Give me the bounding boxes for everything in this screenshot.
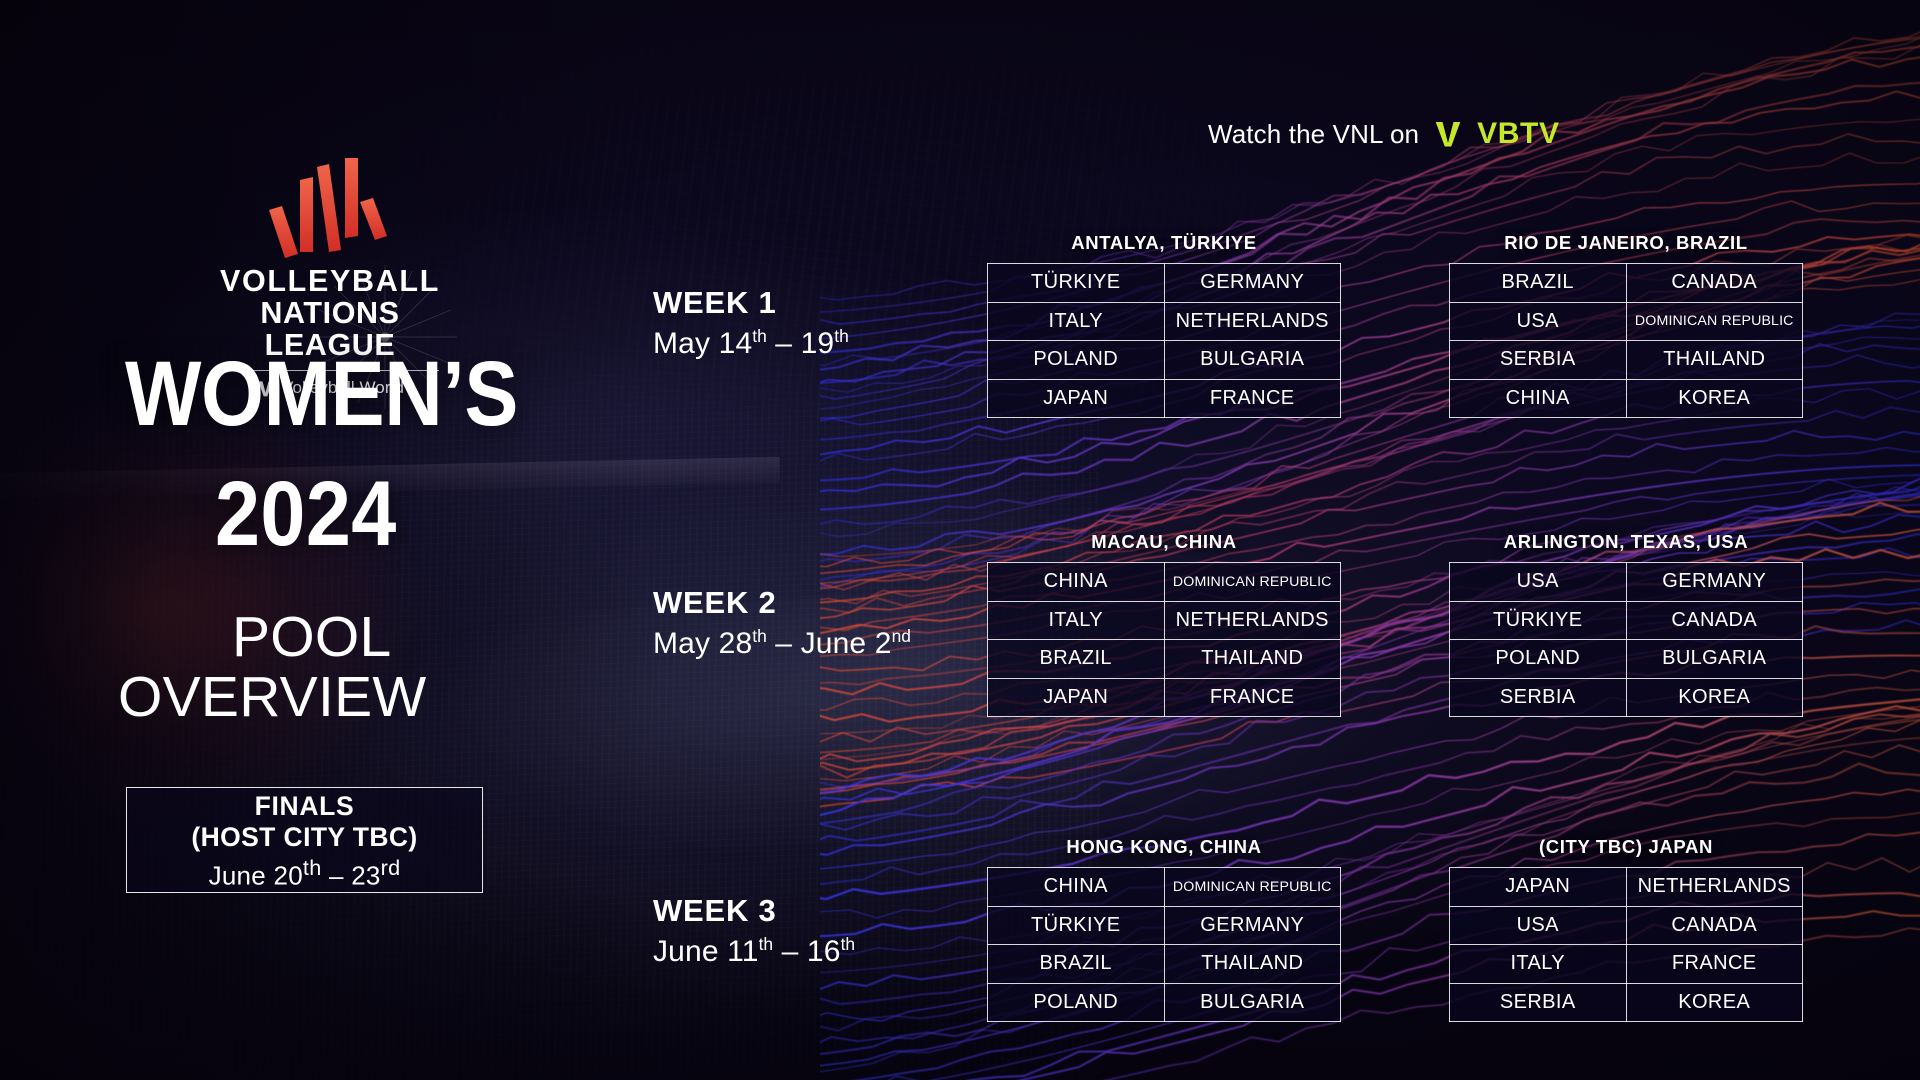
- finals-box: FINALS (HOST CITY TBC) June 20th – 23rd: [126, 787, 483, 893]
- table-row: TÜRKIYEGERMANY: [988, 264, 1341, 303]
- pool-table: CHINADOMINICAN REPUBLICTÜRKIYEGERMANYBRA…: [987, 867, 1341, 1022]
- finals-date-dash: –: [322, 860, 352, 890]
- week-title: WEEK 1: [653, 285, 849, 321]
- week-date-p2: – 19: [767, 327, 834, 360]
- finals-date-sup1: th: [303, 855, 322, 880]
- finals-title: FINALS: [255, 791, 355, 822]
- team-cell: THAILAND: [1164, 640, 1341, 679]
- table-row: POLANDBULGARIA: [988, 341, 1341, 380]
- table-row: SERBIATHAILAND: [1450, 341, 1803, 380]
- team-cell: JAPAN: [988, 379, 1165, 418]
- pool-block: HONG KONG, CHINACHINADOMINICAN REPUBLICT…: [987, 836, 1341, 1022]
- team-cell: KOREA: [1626, 379, 1803, 418]
- team-cell: BRAZIL: [988, 945, 1165, 984]
- team-cell: USA: [1450, 302, 1627, 341]
- team-cell: TÜRKIYE: [1450, 601, 1627, 640]
- team-cell: BULGARIA: [1164, 341, 1341, 380]
- week-dates: May 28th – June 2nd: [653, 626, 911, 661]
- pool-table: BRAZILCANADAUSADOMINICAN REPUBLICSERBIAT…: [1449, 263, 1803, 418]
- finals-date-day1: 20: [273, 860, 302, 890]
- team-cell: NETHERLANDS: [1164, 302, 1341, 341]
- page-title-line-1: WOMEN’S: [125, 352, 518, 437]
- vnl-logo-icon: [255, 150, 405, 260]
- team-cell: DOMINICAN REPUBLIC: [1164, 868, 1341, 907]
- pool-block: MACAU, CHINACHINADOMINICAN REPUBLICITALY…: [987, 531, 1341, 717]
- table-row: BRAZILCANADA: [1450, 264, 1803, 303]
- team-cell: THAILAND: [1164, 945, 1341, 984]
- watch-on-vbtv[interactable]: Watch the VNL on VBTV: [1208, 117, 1560, 151]
- week-block-2: WEEK 2May 28th – June 2nd: [653, 585, 911, 661]
- team-cell: DOMINICAN REPUBLIC: [1164, 563, 1341, 602]
- team-cell: CHINA: [988, 563, 1165, 602]
- team-cell: ITALY: [988, 302, 1165, 341]
- week-block-3: WEEK 3June 11th – 16th: [653, 893, 855, 969]
- team-cell: ITALY: [988, 601, 1165, 640]
- week-date-p2: – 16: [773, 935, 840, 968]
- pool-table: USAGERMANYTÜRKIYECANADAPOLANDBULGARIASER…: [1449, 562, 1803, 717]
- pool-city-label: HONG KONG, CHINA: [987, 836, 1341, 858]
- logo-line-1: VOLLEYBALL: [215, 266, 445, 297]
- pool-block: ANTALYA, TÜRKIYETÜRKIYEGERMANYITALYNETHE…: [987, 232, 1341, 418]
- team-cell: DOMINICAN REPUBLIC: [1626, 302, 1803, 341]
- team-cell: TÜRKIYE: [988, 906, 1165, 945]
- vbtv-shield-icon: [1431, 119, 1465, 149]
- week-date-s2: nd: [892, 626, 911, 646]
- team-cell: SERBIA: [1450, 983, 1627, 1022]
- team-cell: FRANCE: [1164, 678, 1341, 717]
- team-cell: USA: [1450, 563, 1627, 602]
- team-cell: SERBIA: [1450, 341, 1627, 380]
- pool-table: TÜRKIYEGERMANYITALYNETHERLANDSPOLANDBULG…: [987, 263, 1341, 418]
- finals-date: June 20th – 23rd: [209, 855, 401, 892]
- team-cell: CANADA: [1626, 601, 1803, 640]
- week-date-p1: May 28: [653, 627, 752, 660]
- pool-block: RIO DE JANEIRO, BRAZILBRAZILCANADAUSADOM…: [1449, 232, 1803, 418]
- team-cell: THAILAND: [1626, 341, 1803, 380]
- pool-city-label: ARLINGTON, TEXAS, USA: [1449, 531, 1803, 553]
- team-cell: FRANCE: [1164, 379, 1341, 418]
- team-cell: BULGARIA: [1626, 640, 1803, 679]
- team-cell: USA: [1450, 906, 1627, 945]
- team-cell: FRANCE: [1626, 945, 1803, 984]
- week-date-p1: June 11: [653, 935, 759, 968]
- table-row: ITALYNETHERLANDS: [988, 302, 1341, 341]
- team-cell: GERMANY: [1626, 563, 1803, 602]
- team-cell: POLAND: [988, 983, 1165, 1022]
- week-date-s2: th: [834, 326, 849, 346]
- table-row: SERBIAKOREA: [1450, 983, 1803, 1022]
- team-cell: NETHERLANDS: [1626, 868, 1803, 907]
- team-cell: KOREA: [1626, 678, 1803, 717]
- table-row: BRAZILTHAILAND: [988, 945, 1341, 984]
- table-row: TÜRKIYEGERMANY: [988, 906, 1341, 945]
- table-row: JAPANFRANCE: [988, 379, 1341, 418]
- team-cell: CANADA: [1626, 906, 1803, 945]
- watch-label: Watch the VNL on: [1208, 119, 1419, 150]
- team-cell: GERMANY: [1164, 906, 1341, 945]
- team-cell: NETHERLANDS: [1164, 601, 1341, 640]
- team-cell: JAPAN: [1450, 868, 1627, 907]
- team-cell: SERBIA: [1450, 678, 1627, 717]
- pool-city-label: RIO DE JANEIRO, BRAZIL: [1449, 232, 1803, 254]
- team-cell: BULGARIA: [1164, 983, 1341, 1022]
- team-cell: CHINA: [1450, 379, 1627, 418]
- team-cell: JAPAN: [988, 678, 1165, 717]
- finals-host-city: (HOST CITY TBC): [191, 822, 417, 853]
- table-row: USACANADA: [1450, 906, 1803, 945]
- week-date-s2: th: [841, 934, 856, 954]
- team-cell: KOREA: [1626, 983, 1803, 1022]
- finals-date-day2: 23: [351, 860, 380, 890]
- finals-date-sup2: rd: [381, 855, 401, 880]
- table-row: ITALYFRANCE: [1450, 945, 1803, 984]
- week-date-p1: May 14: [653, 327, 752, 360]
- table-row: TÜRKIYECANADA: [1450, 601, 1803, 640]
- team-cell: CHINA: [988, 868, 1165, 907]
- table-row: POLANDBULGARIA: [988, 983, 1341, 1022]
- pool-city-label: (CITY TBC) JAPAN: [1449, 836, 1803, 858]
- team-cell: TÜRKIYE: [988, 264, 1165, 303]
- pool-table: JAPANNETHERLANDSUSACANADAITALYFRANCESERB…: [1449, 867, 1803, 1022]
- team-cell: BRAZIL: [988, 640, 1165, 679]
- team-cell: CANADA: [1626, 264, 1803, 303]
- week-date-p2: – June 2: [767, 627, 892, 660]
- week-date-s1: th: [759, 934, 774, 954]
- pool-block: (CITY TBC) JAPANJAPANNETHERLANDSUSACANAD…: [1449, 836, 1803, 1022]
- page-title-line-4: OVERVIEW: [118, 667, 426, 729]
- week-block-1: WEEK 1May 14th – 19th: [653, 285, 849, 361]
- team-cell: BRAZIL: [1450, 264, 1627, 303]
- pool-block: ARLINGTON, TEXAS, USAUSAGERMANYTÜRKIYECA…: [1449, 531, 1803, 717]
- finals-date-month: June: [209, 860, 274, 890]
- table-row: USAGERMANY: [1450, 563, 1803, 602]
- week-dates: May 14th – 19th: [653, 326, 849, 361]
- page-title-line-3: POOL: [232, 607, 392, 669]
- page-title-line-2: 2024: [215, 472, 397, 557]
- week-date-s1: th: [752, 326, 767, 346]
- table-row: POLANDBULGARIA: [1450, 640, 1803, 679]
- table-row: CHINAKOREA: [1450, 379, 1803, 418]
- team-cell: ITALY: [1450, 945, 1627, 984]
- pool-city-label: ANTALYA, TÜRKIYE: [987, 232, 1341, 254]
- table-row: SERBIAKOREA: [1450, 678, 1803, 717]
- team-cell: POLAND: [988, 341, 1165, 380]
- pool-table: CHINADOMINICAN REPUBLICITALYNETHERLANDSB…: [987, 562, 1341, 717]
- table-row: CHINADOMINICAN REPUBLIC: [988, 868, 1341, 907]
- vbtv-brand-label: VBTV: [1477, 117, 1559, 151]
- table-row: JAPANFRANCE: [988, 678, 1341, 717]
- pool-city-label: MACAU, CHINA: [987, 531, 1341, 553]
- table-row: USADOMINICAN REPUBLIC: [1450, 302, 1803, 341]
- table-row: ITALYNETHERLANDS: [988, 601, 1341, 640]
- week-title: WEEK 3: [653, 893, 855, 929]
- week-dates: June 11th – 16th: [653, 934, 855, 969]
- team-cell: GERMANY: [1164, 264, 1341, 303]
- week-date-s1: th: [752, 626, 767, 646]
- table-row: JAPANNETHERLANDS: [1450, 868, 1803, 907]
- table-row: BRAZILTHAILAND: [988, 640, 1341, 679]
- table-row: CHINADOMINICAN REPUBLIC: [988, 563, 1341, 602]
- team-cell: POLAND: [1450, 640, 1627, 679]
- week-title: WEEK 2: [653, 585, 911, 621]
